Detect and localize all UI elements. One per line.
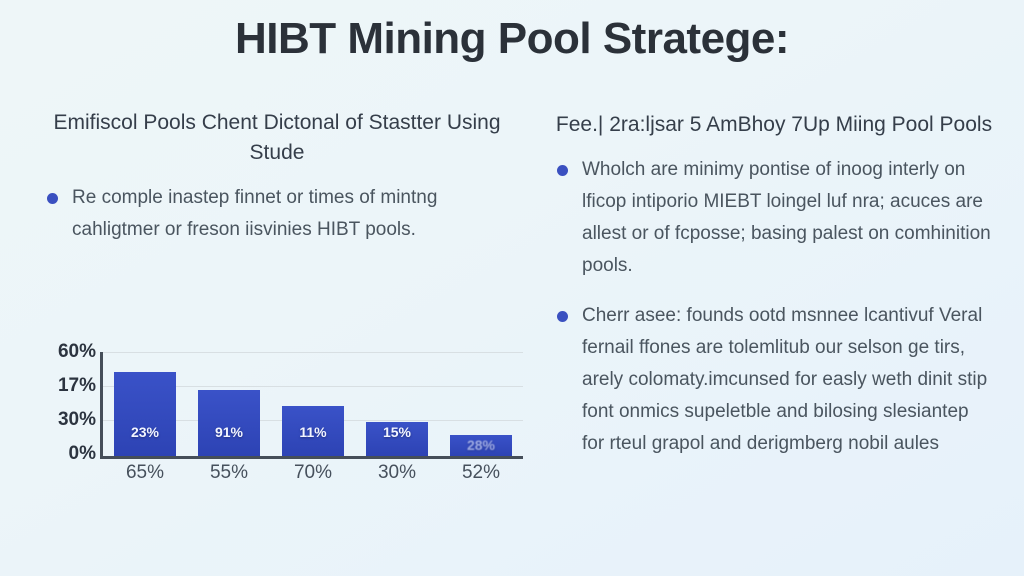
bar-value-label: 91%	[215, 424, 243, 440]
x-axis-tick: 65%	[114, 462, 176, 484]
x-axis-tick: 30%	[366, 462, 428, 484]
slide-root: HIBT Mining Pool Stratege: Emifiscol Poo…	[0, 0, 1024, 576]
page-title: HIBT Mining Pool Stratege:	[0, 14, 1024, 64]
bar-1[interactable]: 91%	[198, 390, 260, 456]
bar-chart: 60% 17% 30% 0% 23% 91%	[44, 344, 520, 520]
list-item-text: Wholch are minimy pontise of inoog inter…	[582, 159, 991, 276]
slide-body: Emifiscol Pools Chent Dictonal of Stastt…	[0, 108, 1024, 576]
bullet-dot-icon	[557, 165, 568, 176]
bar-value-label: 11%	[299, 424, 326, 440]
bullet-dot-icon	[557, 311, 568, 322]
x-axis-tick: 55%	[198, 462, 260, 484]
list-item: Wholch are minimy pontise of inoog inter…	[554, 154, 994, 282]
right-column-heading: Fee.| 2ra:ljsar 5 AmBhoy 7Up Miing Pool …	[554, 110, 994, 140]
left-bullet-list: Re comple inastep finnet or times of min…	[44, 182, 510, 246]
list-item-text: Cherr asee: founds ootd msnnee lcantivuf…	[582, 305, 987, 454]
list-item-text: Re comple inastep finnet or times of min…	[72, 187, 437, 240]
y-axis-tick: 30%	[44, 409, 96, 431]
left-column: Emifiscol Pools Chent Dictonal of Stastt…	[0, 108, 536, 576]
y-axis-tick: 0%	[44, 443, 96, 465]
x-axis-tick: 52%	[450, 462, 512, 484]
list-item: Re comple inastep finnet or times of min…	[44, 182, 510, 246]
chart-bars: 23% 91% 11% 15% 28%	[103, 352, 523, 456]
chart-x-axis: 65% 55% 70% 30% 52%	[103, 462, 523, 484]
right-bullet-list: Wholch are minimy pontise of inoog inter…	[554, 154, 994, 460]
chart-y-axis: 60% 17% 30% 0%	[44, 344, 96, 464]
bar-value-label: 15%	[383, 424, 411, 440]
left-column-heading: Emifiscol Pools Chent Dictonal of Stastt…	[44, 108, 510, 168]
list-item: Cherr asee: founds ootd msnnee lcantivuf…	[554, 300, 994, 460]
chart-plot-area: 23% 91% 11% 15% 28%	[100, 352, 523, 459]
y-axis-tick: 60%	[44, 341, 96, 363]
bar-0[interactable]: 23%	[114, 372, 176, 456]
bar-value-label: 23%	[131, 424, 159, 440]
bar-3[interactable]: 15%	[366, 422, 428, 456]
bar-4[interactable]: 28%	[450, 435, 512, 456]
bar-2[interactable]: 11%	[282, 406, 344, 456]
bullet-dot-icon	[47, 193, 58, 204]
x-axis-tick: 70%	[282, 462, 344, 484]
bar-value-label: 28%	[467, 437, 495, 453]
y-axis-tick: 17%	[44, 375, 96, 397]
right-column: Fee.| 2ra:ljsar 5 AmBhoy 7Up Miing Pool …	[536, 108, 1024, 576]
